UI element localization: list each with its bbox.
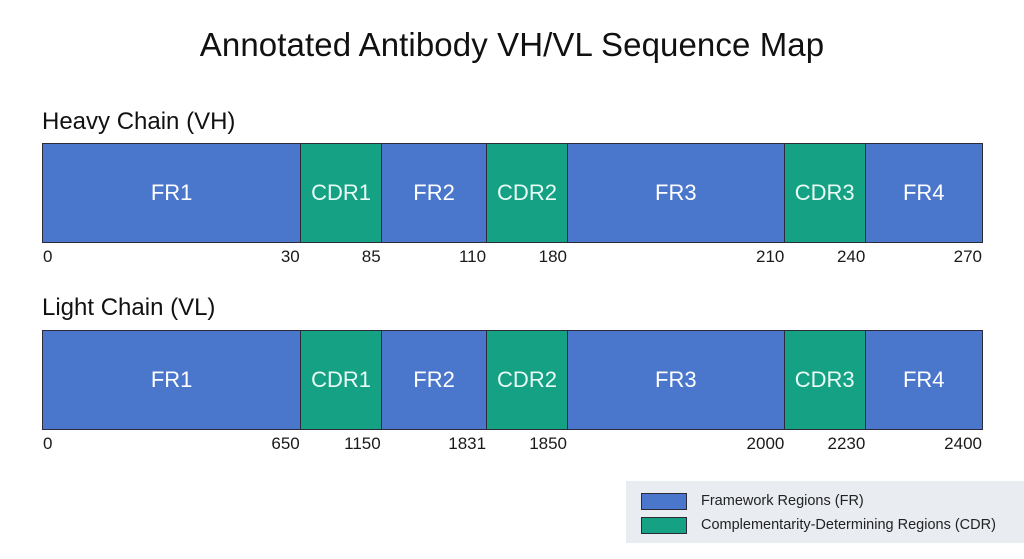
light-chain-track: FR1CDR1FR2CDR2FR3CDR3FR4 (42, 330, 983, 430)
segment-label: FR1 (151, 367, 193, 393)
segment-light-cdr1[interactable]: CDR1 (301, 331, 382, 429)
segment-heavy-fr2[interactable]: FR2 (382, 144, 487, 242)
axis-tick-label: 30 (281, 247, 301, 267)
segment-light-fr4[interactable]: FR4 (866, 331, 982, 429)
segment-light-fr1[interactable]: FR1 (43, 331, 301, 429)
segment-label: FR1 (151, 180, 193, 206)
axis-tick-label: 2400 (944, 434, 983, 454)
axis-tick-label: 85 (362, 247, 382, 267)
page-title: Annotated Antibody VH/VL Sequence Map (0, 26, 1024, 64)
axis-tick-label: 240 (837, 247, 866, 267)
heavy-chain-track: FR1CDR1FR2CDR2FR3CDR3FR4 (42, 143, 983, 243)
axis-tick-label: 270 (954, 247, 983, 267)
segment-label: FR4 (903, 180, 945, 206)
segment-label: CDR2 (497, 367, 557, 393)
segment-label: FR2 (413, 367, 455, 393)
axis-tick-label: 2000 (747, 434, 786, 454)
heavy-chain-axis: 03085110180210240270 (42, 247, 983, 269)
segment-heavy-fr4[interactable]: FR4 (866, 144, 982, 242)
light-chain-axis: 0650115018311850200022302400 (42, 434, 983, 456)
axis-tick-label: 180 (539, 247, 568, 267)
legend-panel: Framework Regions (FR)Complementarity-De… (626, 481, 1024, 543)
legend-swatch-cdr (641, 517, 687, 534)
axis-tick-label: 2230 (827, 434, 866, 454)
axis-tick-label: 650 (271, 434, 300, 454)
segment-label: CDR3 (795, 367, 855, 393)
axis-tick-label: 210 (756, 247, 785, 267)
segment-heavy-cdr2[interactable]: CDR2 (487, 144, 568, 242)
segment-light-cdr2[interactable]: CDR2 (487, 331, 568, 429)
legend-item: Framework Regions (FR) (641, 490, 1024, 512)
axis-tick-label: 1850 (529, 434, 568, 454)
segment-heavy-fr1[interactable]: FR1 (43, 144, 301, 242)
legend-label: Framework Regions (FR) (701, 493, 864, 509)
axis-tick-label: 0 (42, 247, 52, 267)
segment-light-fr3[interactable]: FR3 (568, 331, 785, 429)
segment-label: FR3 (655, 367, 697, 393)
segment-label: FR4 (903, 367, 945, 393)
heavy-chain-label: Heavy Chain (VH) (42, 108, 235, 136)
axis-tick-label: 1831 (448, 434, 487, 454)
segment-heavy-fr3[interactable]: FR3 (568, 144, 785, 242)
legend-swatch-framework (641, 493, 687, 510)
axis-tick-label: 110 (459, 247, 487, 267)
segment-light-cdr3[interactable]: CDR3 (785, 331, 866, 429)
legend-label: Complementarity-Determining Regions (CDR… (701, 517, 996, 533)
light-chain-label: Light Chain (VL) (42, 294, 215, 322)
segment-light-fr2[interactable]: FR2 (382, 331, 487, 429)
axis-tick-label: 0 (42, 434, 52, 454)
segment-heavy-cdr1[interactable]: CDR1 (301, 144, 382, 242)
axis-tick-label: 1150 (344, 434, 382, 454)
segment-heavy-cdr3[interactable]: CDR3 (785, 144, 866, 242)
segment-label: CDR1 (311, 367, 371, 393)
segment-label: CDR3 (795, 180, 855, 206)
segment-label: CDR1 (311, 180, 371, 206)
segment-label: FR2 (413, 180, 455, 206)
segment-label: FR3 (655, 180, 697, 206)
legend-item: Complementarity-Determining Regions (CDR… (641, 514, 1024, 536)
segment-label: CDR2 (497, 180, 557, 206)
